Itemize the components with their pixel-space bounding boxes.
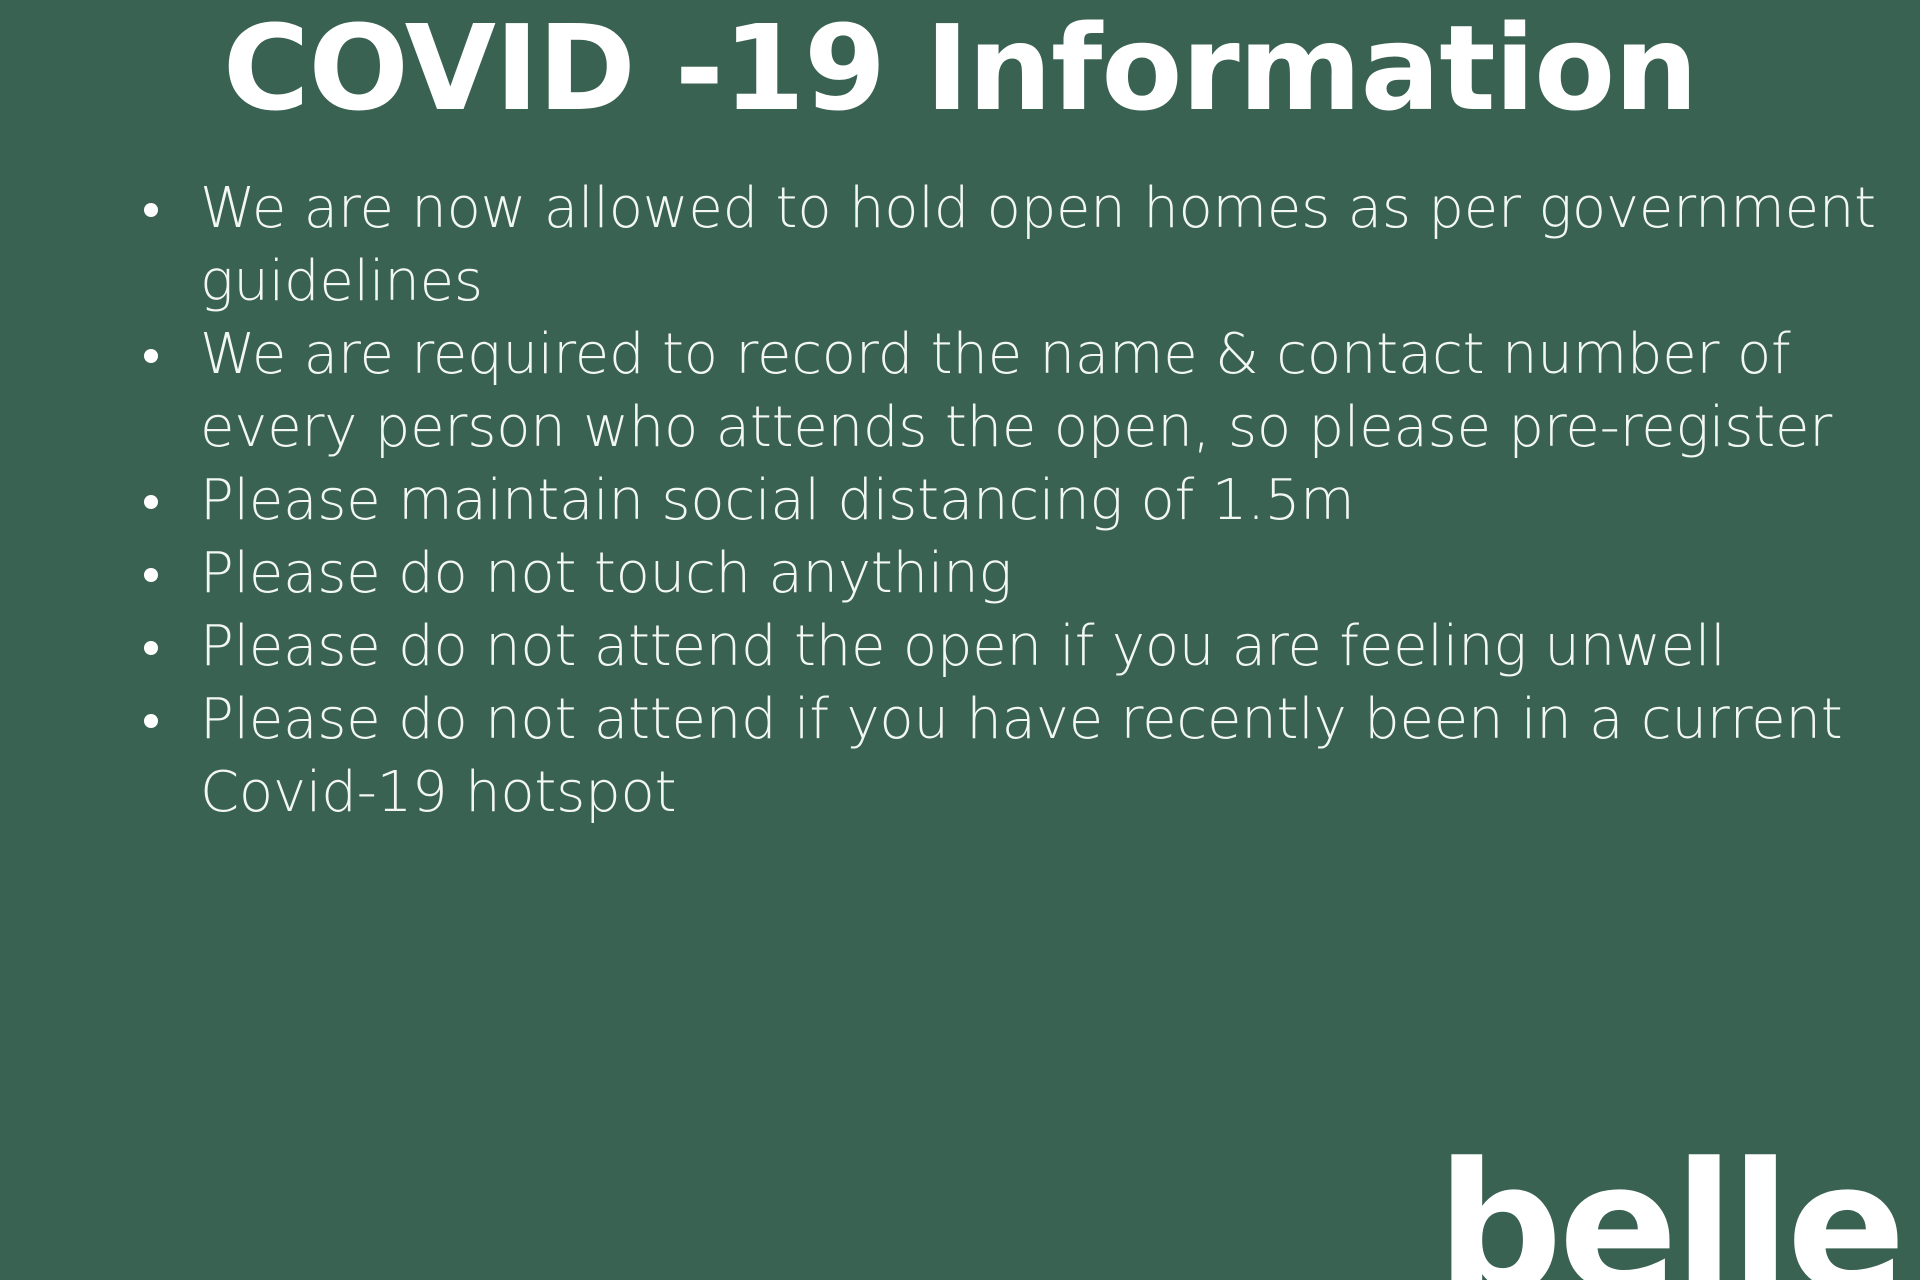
bullet-dot-icon [144,495,158,509]
list-item-text: We are required to record the name & con… [200,318,1880,464]
list-item-text: Please do not attend the open if you are… [200,610,1880,683]
covid-information-slide: COVID -19 Information We are now allowed… [0,0,1920,1280]
bullet-dot-icon [144,714,158,728]
list-item-text: Please do not attend if you have recentl… [200,683,1880,829]
list-item: We are required to record the name & con… [126,318,1880,464]
covid-guidelines-list: We are now allowed to hold open homes as… [126,172,1880,829]
list-item: We are now allowed to hold open homes as… [126,172,1880,318]
list-item: Please do not attend the open if you are… [126,610,1880,683]
bullet-dot-icon [144,641,158,655]
bullet-dot-icon [144,568,158,582]
bullet-dot-icon [144,349,158,363]
list-item: Please do not touch anything [126,537,1880,610]
list-item: Please do not attend if you have recentl… [126,683,1880,829]
bullet-dot-icon [144,203,158,217]
list-item-text: Please maintain social distancing of 1.5… [200,464,1880,537]
list-item-text: We are now allowed to hold open homes as… [200,172,1880,318]
list-item: Please maintain social distancing of 1.5… [126,464,1880,537]
belle-logo: belle [1437,1140,1902,1280]
list-item-text: Please do not touch anything [200,537,1880,610]
page-title: COVID -19 Information [0,2,1920,134]
